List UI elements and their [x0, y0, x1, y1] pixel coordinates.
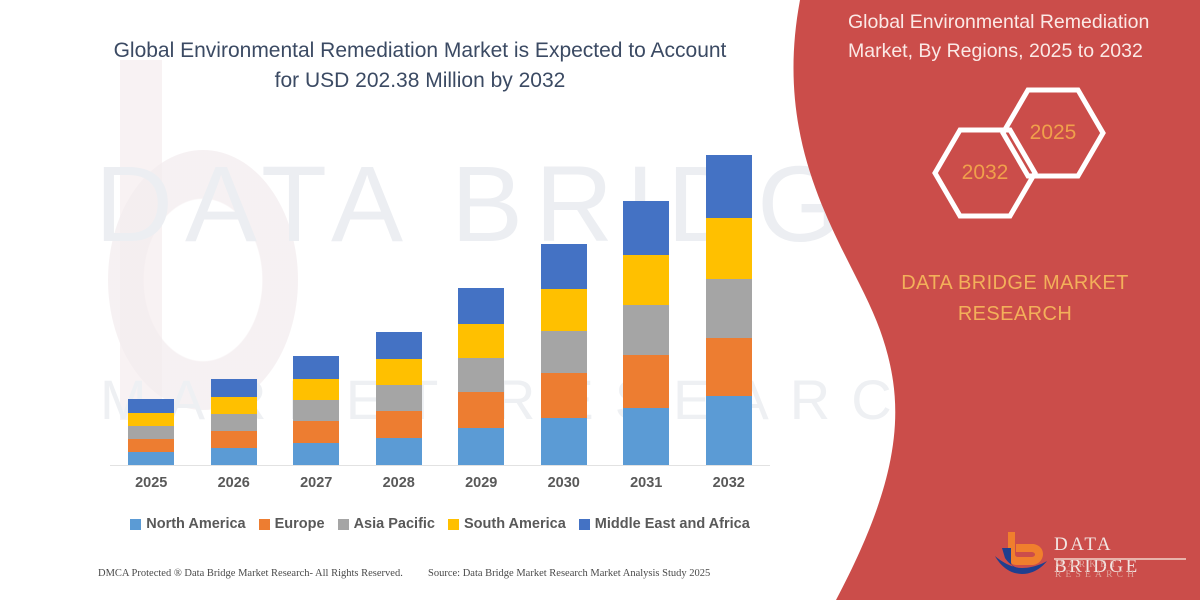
- bar-segment[interactable]: [541, 331, 587, 373]
- bar-segment[interactable]: [376, 332, 422, 359]
- x-axis-line: [110, 465, 770, 466]
- bar-segment[interactable]: [128, 439, 174, 452]
- x-axis-label-2028: 2028: [359, 475, 439, 491]
- bar-segment[interactable]: [211, 379, 257, 397]
- legend-item[interactable]: North America: [130, 516, 245, 532]
- bar-segment[interactable]: [458, 392, 504, 428]
- bar-segment[interactable]: [128, 426, 174, 439]
- x-axis-label-2029: 2029: [441, 475, 521, 491]
- chart-legend: North AmericaEuropeAsia PacificSouth Ame…: [110, 512, 770, 536]
- bar-segment[interactable]: [706, 155, 752, 218]
- hexagon-2025: 2025: [998, 85, 1108, 181]
- bar-stack-2029[interactable]: [458, 288, 504, 466]
- legend-item[interactable]: Europe: [259, 516, 325, 532]
- bar-segment[interactable]: [706, 279, 752, 338]
- bar-segment[interactable]: [293, 443, 339, 466]
- bar-segment[interactable]: [128, 413, 174, 426]
- footer-source: Source: Data Bridge Market Research Mark…: [428, 568, 710, 579]
- bar-segment[interactable]: [293, 400, 339, 421]
- legend-swatch-icon: [338, 519, 349, 530]
- bar-segment[interactable]: [623, 355, 669, 408]
- logo-bridge-icon: [992, 528, 1050, 578]
- bar-segment[interactable]: [128, 452, 174, 466]
- bar-segment[interactable]: [706, 338, 752, 396]
- right-panel: Global Environmental Remediation Market,…: [830, 0, 1200, 600]
- bar-segment[interactable]: [211, 448, 257, 466]
- bar-segment[interactable]: [458, 428, 504, 466]
- x-axis-labels: 20252026202720282029203020312032: [110, 472, 770, 498]
- bar-stack-2028[interactable]: [376, 332, 422, 466]
- legend-item[interactable]: Middle East and Africa: [579, 516, 750, 532]
- footer-copyright: DMCA Protected ® Data Bridge Market Rese…: [98, 568, 403, 579]
- bar-segment[interactable]: [293, 421, 339, 443]
- bar-segment[interactable]: [458, 288, 504, 324]
- bar-stack-2032[interactable]: [706, 155, 752, 466]
- bar-segment[interactable]: [376, 411, 422, 438]
- bar-segment[interactable]: [541, 418, 587, 466]
- x-axis-label-2031: 2031: [606, 475, 686, 491]
- panel-title: Global Environmental Remediation Market,…: [848, 8, 1193, 66]
- hexagon-2025-label: 2025: [1030, 121, 1077, 145]
- brand-name: DATA BRIDGE MARKET RESEARCH: [830, 268, 1200, 330]
- x-axis-label-2027: 2027: [276, 475, 356, 491]
- legend-label: Asia Pacific: [354, 516, 435, 532]
- stacked-bar-chart: [110, 130, 770, 466]
- hexagon-group: 2032 2025: [830, 95, 1200, 225]
- x-axis-label-2026: 2026: [194, 475, 274, 491]
- legend-label: Europe: [275, 516, 325, 532]
- bar-segment[interactable]: [623, 305, 669, 355]
- bar-segment[interactable]: [623, 408, 669, 466]
- bar-stack-2027[interactable]: [293, 356, 339, 466]
- x-axis-label-2032: 2032: [689, 475, 769, 491]
- page-title: Global Environmental Remediation Market …: [110, 36, 730, 96]
- bar-segment[interactable]: [211, 414, 257, 431]
- legend-item[interactable]: South America: [448, 516, 566, 532]
- bar-segment[interactable]: [211, 397, 257, 414]
- chart-panel: Global Environmental Remediation Market …: [0, 0, 830, 600]
- bar-segment[interactable]: [293, 379, 339, 400]
- legend-label: Middle East and Africa: [595, 516, 750, 532]
- bar-segment[interactable]: [293, 356, 339, 379]
- bar-segment[interactable]: [706, 218, 752, 279]
- bar-segment[interactable]: [376, 438, 422, 466]
- bar-segment[interactable]: [541, 289, 587, 331]
- legend-swatch-icon: [259, 519, 270, 530]
- logo-subtitle: MARKET RESEARCH: [1055, 560, 1192, 580]
- legend-label: South America: [464, 516, 566, 532]
- hexagon-2032-label: 2032: [962, 161, 1009, 185]
- bar-segment[interactable]: [128, 399, 174, 413]
- bar-segment[interactable]: [541, 373, 587, 418]
- bar-segment[interactable]: [376, 385, 422, 411]
- legend-label: North America: [146, 516, 245, 532]
- bar-segment[interactable]: [376, 359, 422, 385]
- bar-segment[interactable]: [458, 358, 504, 392]
- legend-item[interactable]: Asia Pacific: [338, 516, 435, 532]
- brand-line-1: DATA BRIDGE MARKET: [830, 268, 1200, 299]
- legend-swatch-icon: [130, 519, 141, 530]
- bar-segment[interactable]: [541, 244, 587, 289]
- bar-segment[interactable]: [623, 255, 669, 305]
- legend-swatch-icon: [448, 519, 459, 530]
- infographic-root: DATA BRIDGE MARKET RESEARCH Global Envir…: [0, 0, 1200, 600]
- bar-segment[interactable]: [458, 324, 504, 358]
- bar-stack-2025[interactable]: [128, 399, 174, 466]
- bar-segment[interactable]: [211, 431, 257, 448]
- x-axis-label-2025: 2025: [111, 475, 191, 491]
- brand-line-2: RESEARCH: [830, 299, 1200, 330]
- legend-swatch-icon: [579, 519, 590, 530]
- bar-stack-2030[interactable]: [541, 244, 587, 466]
- bar-stack-2031[interactable]: [623, 201, 669, 466]
- x-axis-label-2030: 2030: [524, 475, 604, 491]
- bar-segment[interactable]: [623, 201, 669, 255]
- bar-segment[interactable]: [706, 396, 752, 466]
- company-logo: DATA BRIDGE MARKET RESEARCH: [992, 528, 1192, 584]
- bar-stack-2026[interactable]: [211, 379, 257, 466]
